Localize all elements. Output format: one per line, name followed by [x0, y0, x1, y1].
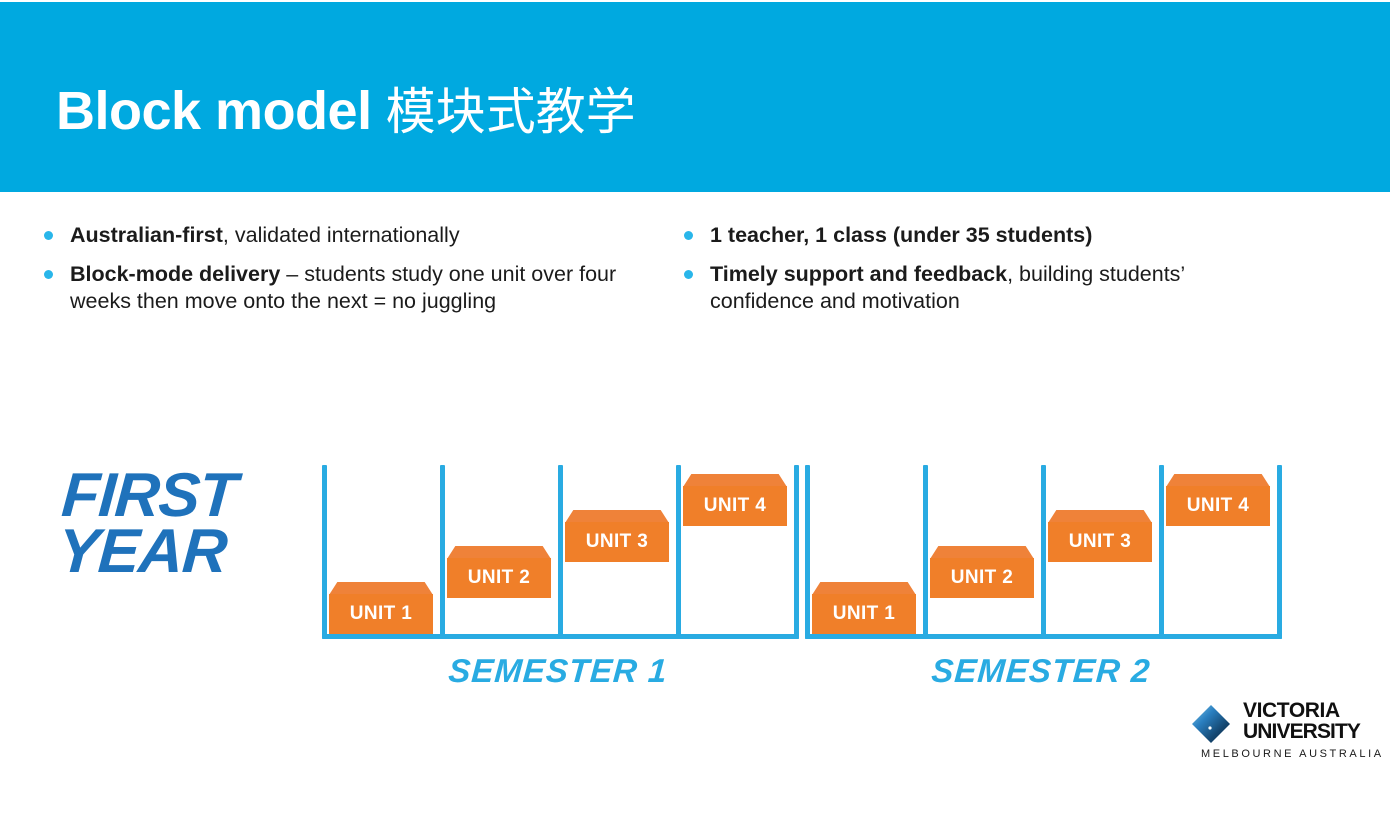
bullet-lead-text: Block-mode delivery — [70, 262, 280, 286]
unit-block-front-face: UNIT 4 — [1166, 486, 1270, 526]
block-model-diagram: FIRST YEAR UNIT 1UNIT 2UNIT 3UNIT 4SEMES… — [0, 440, 1397, 700]
unit-block-front-face: UNIT 3 — [565, 522, 669, 562]
unit-block-label: UNIT 1 — [833, 603, 896, 625]
bullet-rest-text: , validated internationally — [223, 223, 460, 247]
bullet-text: Australian-first, validated internationa… — [70, 222, 460, 249]
bullet-text: Block-mode delivery – students study one… — [70, 261, 644, 315]
semester-chart: UNIT 1UNIT 2UNIT 3UNIT 4SEMESTER 1UNIT 1… — [322, 440, 1282, 700]
bullet-dot-icon — [44, 270, 53, 279]
chart-divider-line — [1159, 465, 1164, 639]
title-banner: Block model模块式教学 — [0, 2, 1390, 192]
unit-block-label: UNIT 4 — [1187, 495, 1250, 517]
diamond-icon — [1191, 704, 1231, 744]
unit-block: UNIT 2 — [447, 546, 551, 598]
chart-divider-line — [794, 465, 799, 639]
unit-block: UNIT 1 — [812, 582, 916, 634]
unit-block-label: UNIT 1 — [350, 603, 413, 625]
chart-divider-line — [322, 465, 327, 639]
chart-baseline — [322, 634, 799, 639]
page-title-chinese: 模块式教学 — [386, 83, 636, 141]
chart-divider-line — [923, 465, 928, 639]
unit-block-label: UNIT 2 — [468, 567, 531, 589]
unit-block: UNIT 1 — [329, 582, 433, 634]
chart-baseline — [805, 634, 1282, 639]
unit-block-front-face: UNIT 3 — [1048, 522, 1152, 562]
page-title: Block model模块式教学 — [56, 80, 636, 143]
chart-divider-line — [1277, 465, 1282, 639]
victoria-university-logo: VICTORIA UNIVERSITY MELBOURNE AUSTRALIA — [1185, 698, 1365, 768]
chart-divider-line — [676, 465, 681, 639]
unit-block-front-face: UNIT 2 — [447, 558, 551, 598]
bullet-dot-icon — [44, 231, 53, 240]
unit-block-front-face: UNIT 2 — [930, 558, 1034, 598]
unit-block: UNIT 3 — [565, 510, 669, 562]
list-item: Timely support and feedback, building st… — [684, 261, 1284, 315]
list-item: Block-mode delivery – students study one… — [44, 261, 644, 315]
unit-block: UNIT 2 — [930, 546, 1034, 598]
unit-block-label: UNIT 3 — [586, 531, 649, 553]
first-year-label-line1: FIRST — [60, 468, 304, 524]
bullet-column-left: Australian-first, validated internationa… — [44, 222, 644, 327]
semester-label: SEMESTER 1 — [447, 652, 669, 690]
unit-block-front-face: UNIT 4 — [683, 486, 787, 526]
unit-block-label: UNIT 3 — [1069, 531, 1132, 553]
bullet-dot-icon — [684, 270, 693, 279]
semester-label: SEMESTER 2 — [930, 652, 1152, 690]
page-title-english: Block model — [56, 81, 372, 141]
unit-block-front-face: UNIT 1 — [812, 594, 916, 634]
chart-divider-line — [805, 465, 810, 639]
logo-line-2: UNIVERSITY — [1243, 721, 1365, 742]
logo-wordmark: VICTORIA UNIVERSITY — [1243, 700, 1365, 742]
logo-line-1: VICTORIA — [1243, 700, 1365, 721]
unit-block: UNIT 3 — [1048, 510, 1152, 562]
unit-block-label: UNIT 2 — [951, 567, 1014, 589]
chart-divider-line — [558, 465, 563, 639]
unit-block-front-face: UNIT 1 — [329, 594, 433, 634]
chart-divider-line — [440, 465, 445, 639]
slide-canvas: Block model模块式教学 Australian-first, valid… — [0, 0, 1397, 818]
first-year-label-line2: YEAR — [56, 524, 300, 580]
bullet-lead-text: Australian-first — [70, 223, 223, 247]
unit-block-label: UNIT 4 — [704, 495, 767, 517]
first-year-label: FIRST YEAR — [56, 468, 304, 580]
bullet-lead-text: Timely support and feedback — [710, 262, 1007, 286]
bullet-area: Australian-first, validated internationa… — [0, 222, 1397, 372]
bullet-lead-text: 1 teacher, 1 class (under 35 students) — [710, 223, 1092, 247]
unit-block: UNIT 4 — [683, 474, 787, 526]
bullet-text: 1 teacher, 1 class (under 35 students) — [710, 222, 1092, 249]
logo-tagline: MELBOURNE AUSTRALIA — [1201, 748, 1384, 760]
unit-block: UNIT 4 — [1166, 474, 1270, 526]
chart-divider-line — [1041, 465, 1046, 639]
bullet-column-right: 1 teacher, 1 class (under 35 students) T… — [684, 222, 1284, 327]
bullet-text: Timely support and feedback, building st… — [710, 261, 1284, 315]
list-item: 1 teacher, 1 class (under 35 students) — [684, 222, 1284, 249]
bullet-dot-icon — [684, 231, 693, 240]
list-item: Australian-first, validated internationa… — [44, 222, 644, 249]
